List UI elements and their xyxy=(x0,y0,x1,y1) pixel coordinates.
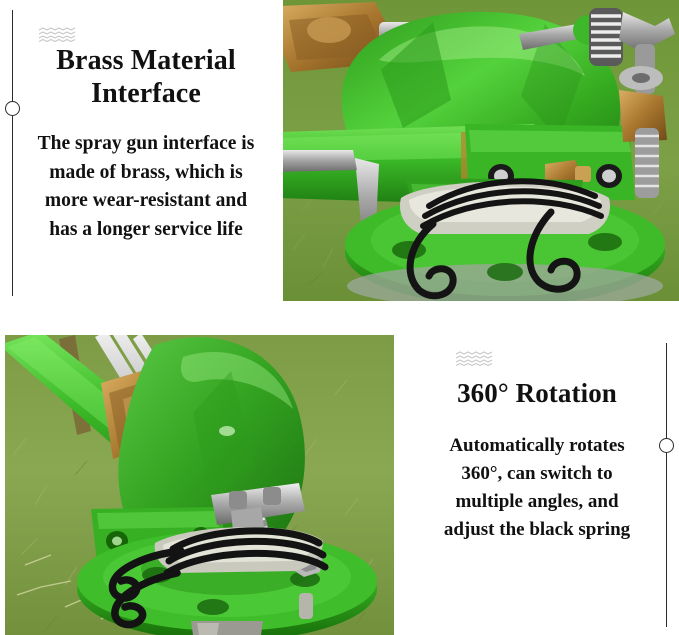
section-brass-material-interface: Brass Material Interface The spray gun i… xyxy=(14,44,278,245)
body-line: made of brass, which is xyxy=(14,159,278,188)
timeline-rule-left xyxy=(12,10,13,296)
body-line: 360°, can switch to xyxy=(408,460,666,488)
body-line: more wear-resistant and xyxy=(14,187,278,216)
section-360-rotation: 360° Rotation Automatically rotates 360°… xyxy=(408,378,666,544)
timeline-rule-right xyxy=(666,343,667,627)
section-heading: Brass Material Interface xyxy=(14,44,278,110)
wave-lines-icon xyxy=(38,27,76,42)
body-line: The spray gun interface is xyxy=(14,130,278,159)
body-line: multiple angles, and xyxy=(408,488,666,516)
section-body: The spray gun interface is made of brass… xyxy=(14,130,278,245)
wave-lines-icon xyxy=(455,351,493,366)
section-body: Automatically rotates 360°, can switch t… xyxy=(408,432,666,544)
photo-brass-interface xyxy=(283,0,679,301)
photo-360-rotation xyxy=(5,335,394,635)
heading-line: 360° Rotation xyxy=(457,378,617,408)
body-line: Automatically rotates xyxy=(408,432,666,460)
body-line: adjust the black spring xyxy=(408,516,666,544)
body-line: has a longer service life xyxy=(14,216,278,245)
heading-line: Interface xyxy=(91,78,201,109)
heading-line: Brass Material xyxy=(56,45,235,76)
section-heading: 360° Rotation xyxy=(408,378,666,410)
